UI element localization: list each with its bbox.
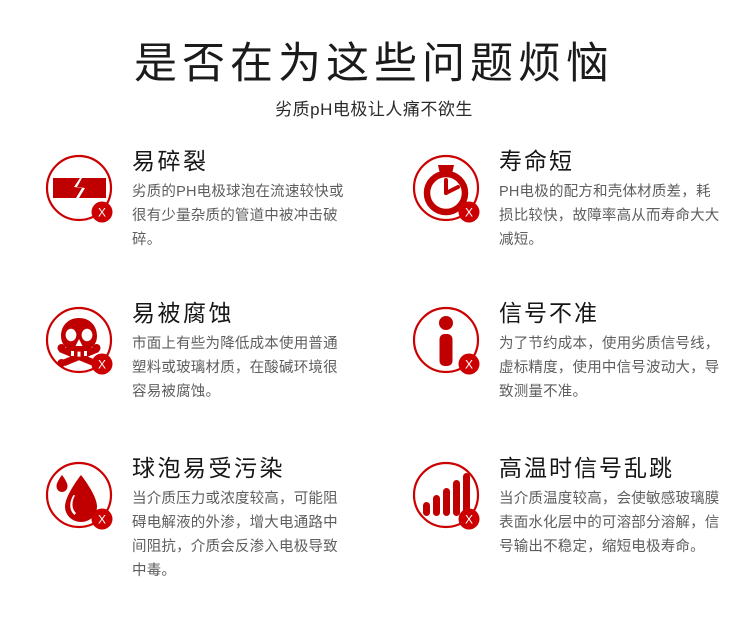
- problem-title: 球泡易受污染: [132, 453, 350, 483]
- problem-text: 寿命短 PH电极的配方和壳体材质差，耗损比较快，故障率高从而寿命大大减短。: [486, 142, 721, 294]
- problem-desc: 劣质的PH电极球泡在流速较快或很有少量杂质的管道中被冲击破碎。: [132, 180, 350, 252]
- problem-text: 高温时信号乱跳 当介质温度较高，会使敏感玻璃膜表面水化层中的可溶部分溶解，信号输…: [486, 449, 721, 599]
- problem-item-corrosion: X 易被腐蚀 市面上有些为降低成本使用普通塑料或玻璃材质，在酸碱环境很容易被腐蚀…: [0, 294, 374, 449]
- problem-desc: 为了节约成本，使用劣质信号线，虚标精度，使用中信号波动大，导致测量不准。: [499, 332, 721, 404]
- problem-text: 球泡易受污染 当介质压力或浓度较高，可能阻碍电解液的外渗，增大电通路中间阻抗，介…: [119, 449, 350, 599]
- problem-text: 信号不准 为了节约成本，使用劣质信号线，虚标精度，使用中信号波动大，导致测量不准…: [486, 294, 721, 449]
- problem-desc: 市面上有些为降低成本使用普通塑料或玻璃材质，在酸碱环境很容易被腐蚀。: [132, 332, 350, 404]
- svg-text:X: X: [465, 206, 473, 220]
- problem-item-broken: X 易碎裂 劣质的PH电极球泡在流速较快或很有少量杂质的管道中被冲击破碎。: [0, 142, 374, 294]
- problem-desc: PH电极的配方和壳体材质差，耗损比较快，故障率高从而寿命大大减短。: [499, 180, 721, 252]
- problem-item-signal-accuracy: X 信号不准 为了节约成本，使用劣质信号线，虚标精度，使用中信号波动大，导致测量…: [374, 294, 748, 449]
- page-subtitle: 劣质pH电极让人痛不欲生: [0, 99, 748, 121]
- grid-row: X 球泡易受污染 当介质压力或浓度较高，可能阻碍电解液的外渗，增大电通路中间阻抗…: [0, 449, 748, 599]
- svg-text:X: X: [465, 358, 473, 372]
- problem-grid: X 易碎裂 劣质的PH电极球泡在流速较快或很有少量杂质的管道中被冲击破碎。: [0, 142, 748, 599]
- info-icon: X: [410, 306, 486, 382]
- svg-text:X: X: [98, 513, 106, 527]
- problem-text: 易被腐蚀 市面上有些为降低成本使用普通塑料或玻璃材质，在酸碱环境很容易被腐蚀。: [119, 294, 350, 449]
- problem-title: 寿命短: [499, 146, 721, 176]
- stopwatch-icon: X: [410, 154, 486, 230]
- problem-desc: 当介质温度较高，会使敏感玻璃膜表面水化层中的可溶部分溶解，信号输出不稳定，缩短电…: [499, 487, 721, 559]
- problem-title: 信号不准: [499, 298, 721, 328]
- svg-text:X: X: [465, 513, 473, 527]
- problem-desc: 当介质压力或浓度较高，可能阻碍电解液的外渗，增大电通路中间阻抗，介质会反渗入电极…: [132, 487, 350, 583]
- skull-crossbones-icon: X: [43, 306, 119, 382]
- problem-title: 易被腐蚀: [132, 298, 350, 328]
- problem-title: 高温时信号乱跳: [499, 453, 721, 483]
- problem-item-contamination: X 球泡易受污染 当介质压力或浓度较高，可能阻碍电解液的外渗，增大电通路中间阻抗…: [0, 449, 374, 599]
- page-header: 是否在为这些问题烦恼 劣质pH电极让人痛不欲生: [0, 0, 748, 121]
- grid-row: X 易被腐蚀 市面上有些为降低成本使用普通塑料或玻璃材质，在酸碱环境很容易被腐蚀…: [0, 294, 748, 449]
- problem-item-high-temp: X 高温时信号乱跳 当介质温度较高，会使敏感玻璃膜表面水化层中的可溶部分溶解，信…: [374, 449, 748, 599]
- page-title: 是否在为这些问题烦恼: [0, 38, 748, 90]
- problem-item-lifespan: X 寿命短 PH电极的配方和壳体材质差，耗损比较快，故障率高从而寿命大大减短。: [374, 142, 748, 294]
- promo-page: 是否在为这些问题烦恼 劣质pH电极让人痛不欲生 X 易碎裂 劣质的PH电极: [0, 0, 748, 637]
- grid-row: X 易碎裂 劣质的PH电极球泡在流速较快或很有少量杂质的管道中被冲击破碎。: [0, 142, 748, 294]
- problem-title: 易碎裂: [132, 146, 350, 176]
- signal-bars-icon: X: [410, 461, 486, 537]
- svg-text:X: X: [98, 206, 106, 220]
- svg-text:X: X: [98, 358, 106, 372]
- problem-text: 易碎裂 劣质的PH电极球泡在流速较快或很有少量杂质的管道中被冲击破碎。: [119, 142, 350, 294]
- water-drop-icon: X: [43, 461, 119, 537]
- broken-bar-icon: X: [43, 154, 119, 230]
